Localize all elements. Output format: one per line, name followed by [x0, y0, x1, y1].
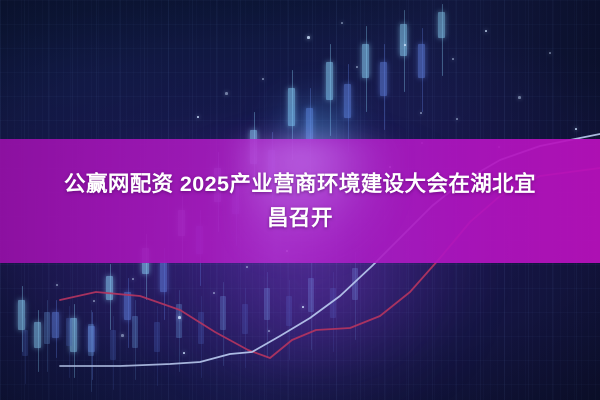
banner-image: 公赢网配资 2025产业营商环境建设大会在湖北宜 昌召开 [0, 0, 600, 400]
title-line-2: 昌召开 [267, 201, 333, 235]
title-block: 公赢网配资 2025产业营商环境建设大会在湖北宜 昌召开 [0, 139, 600, 263]
title-line-1: 公赢网配资 2025产业营商环境建设大会在湖北宜 [64, 167, 536, 201]
